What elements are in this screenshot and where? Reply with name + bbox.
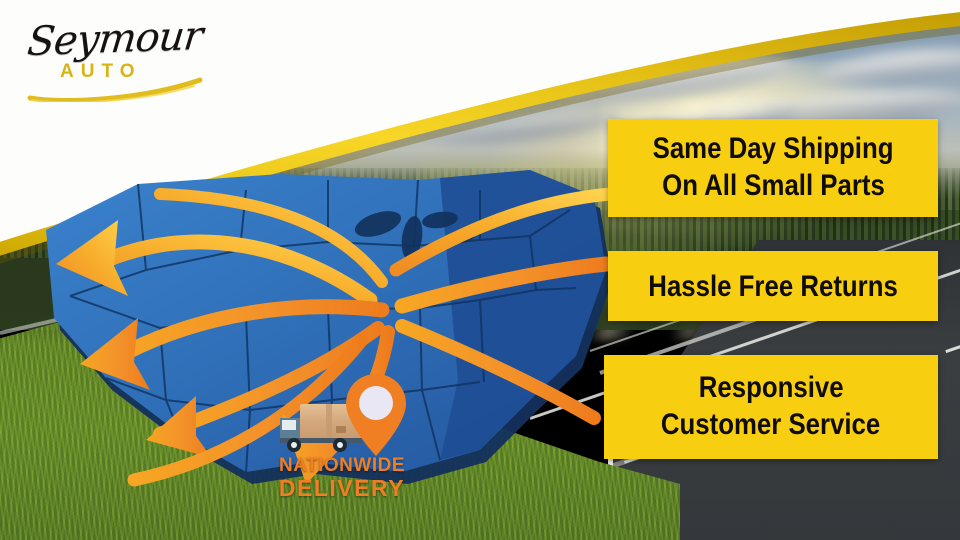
nationwide-delivery-label: NATIONWIDE DELIVERY [262, 456, 422, 500]
promo-line-1: Responsive [699, 370, 844, 407]
map-pin-icon [345, 372, 407, 458]
label-line-2: DELIVERY [262, 477, 422, 500]
label-line-1: NATIONWIDE [262, 456, 422, 475]
promo-line-2: On All Small Parts [662, 168, 885, 205]
promo-card-hassle-free-returns[interactable]: Hassle Free Returns [608, 251, 938, 321]
brand-subtitle: AUTO [60, 61, 141, 83]
promo-card-responsive-customer-service[interactable]: Responsive Customer Service [604, 355, 938, 459]
usa-map-graphic: NATIONWIDE DELIVERY [10, 150, 630, 490]
promo-line-1: Hassle Free Returns [648, 270, 898, 303]
brand-logo[interactable]: Seymour AUTO [22, 16, 212, 102]
promo-line-2: Customer Service [661, 407, 880, 444]
promotional-banner: Seymour AUTO [0, 0, 960, 540]
promo-card-same-day-shipping[interactable]: Same Day Shipping On All Small Parts [608, 119, 938, 217]
brand-name: Seymour [25, 13, 204, 65]
promo-line-1: Same Day Shipping [653, 131, 894, 168]
